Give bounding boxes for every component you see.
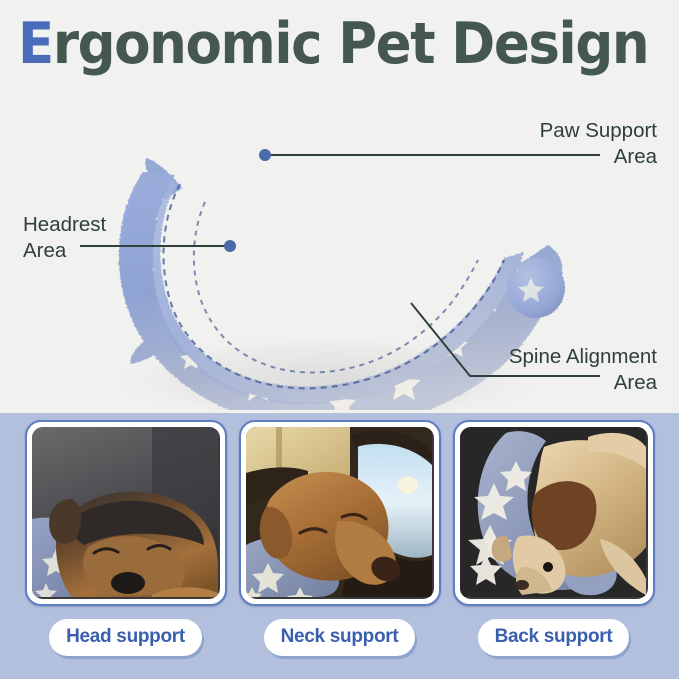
gallery-card-head-support[interactable] [25,420,227,606]
photo-dog-back-curled [460,427,648,599]
page-title: Ergonomic Pet Design [18,13,648,75]
callout-spine-alignment-line2: Area [509,370,657,396]
callout-headrest-line1: Headrest [23,212,106,238]
callout-headrest: Headrest Area [23,212,106,264]
gallery-card-back-support[interactable] [453,420,655,606]
gallery-card-row [0,420,679,606]
gallery-label-row: Head support Neck support Back support [0,619,679,656]
callout-spine-alignment: Spine Alignment Area [509,344,657,396]
callout-paw-support: Paw Support Area [540,118,657,170]
label-neck-support[interactable]: Neck support [264,619,416,656]
hero-section: Ergonomic Pet Design [0,0,679,413]
label-head-support[interactable]: Head support [49,619,202,656]
callout-paw-support-line1: Paw Support [540,118,657,144]
photo-dog-head-on-pillow [32,427,220,599]
title-rest: rgonomic Pet Design [53,11,648,77]
gallery-card-neck-support[interactable] [239,420,441,606]
label-slot-neck: Neck support [239,619,441,656]
photo-dog-neck-in-car [246,427,434,599]
callout-paw-support-line2: Area [540,144,657,170]
callout-headrest-line2: Area [23,238,106,264]
title-initial-letter: E [18,13,53,75]
gallery-section: Head support Neck support Back support [0,413,679,679]
label-back-support[interactable]: Back support [478,619,630,656]
label-slot-head: Head support [25,619,227,656]
callout-spine-alignment-line1: Spine Alignment [509,344,657,370]
infographic-page: Ergonomic Pet Design [0,0,679,679]
label-slot-back: Back support [453,619,655,656]
